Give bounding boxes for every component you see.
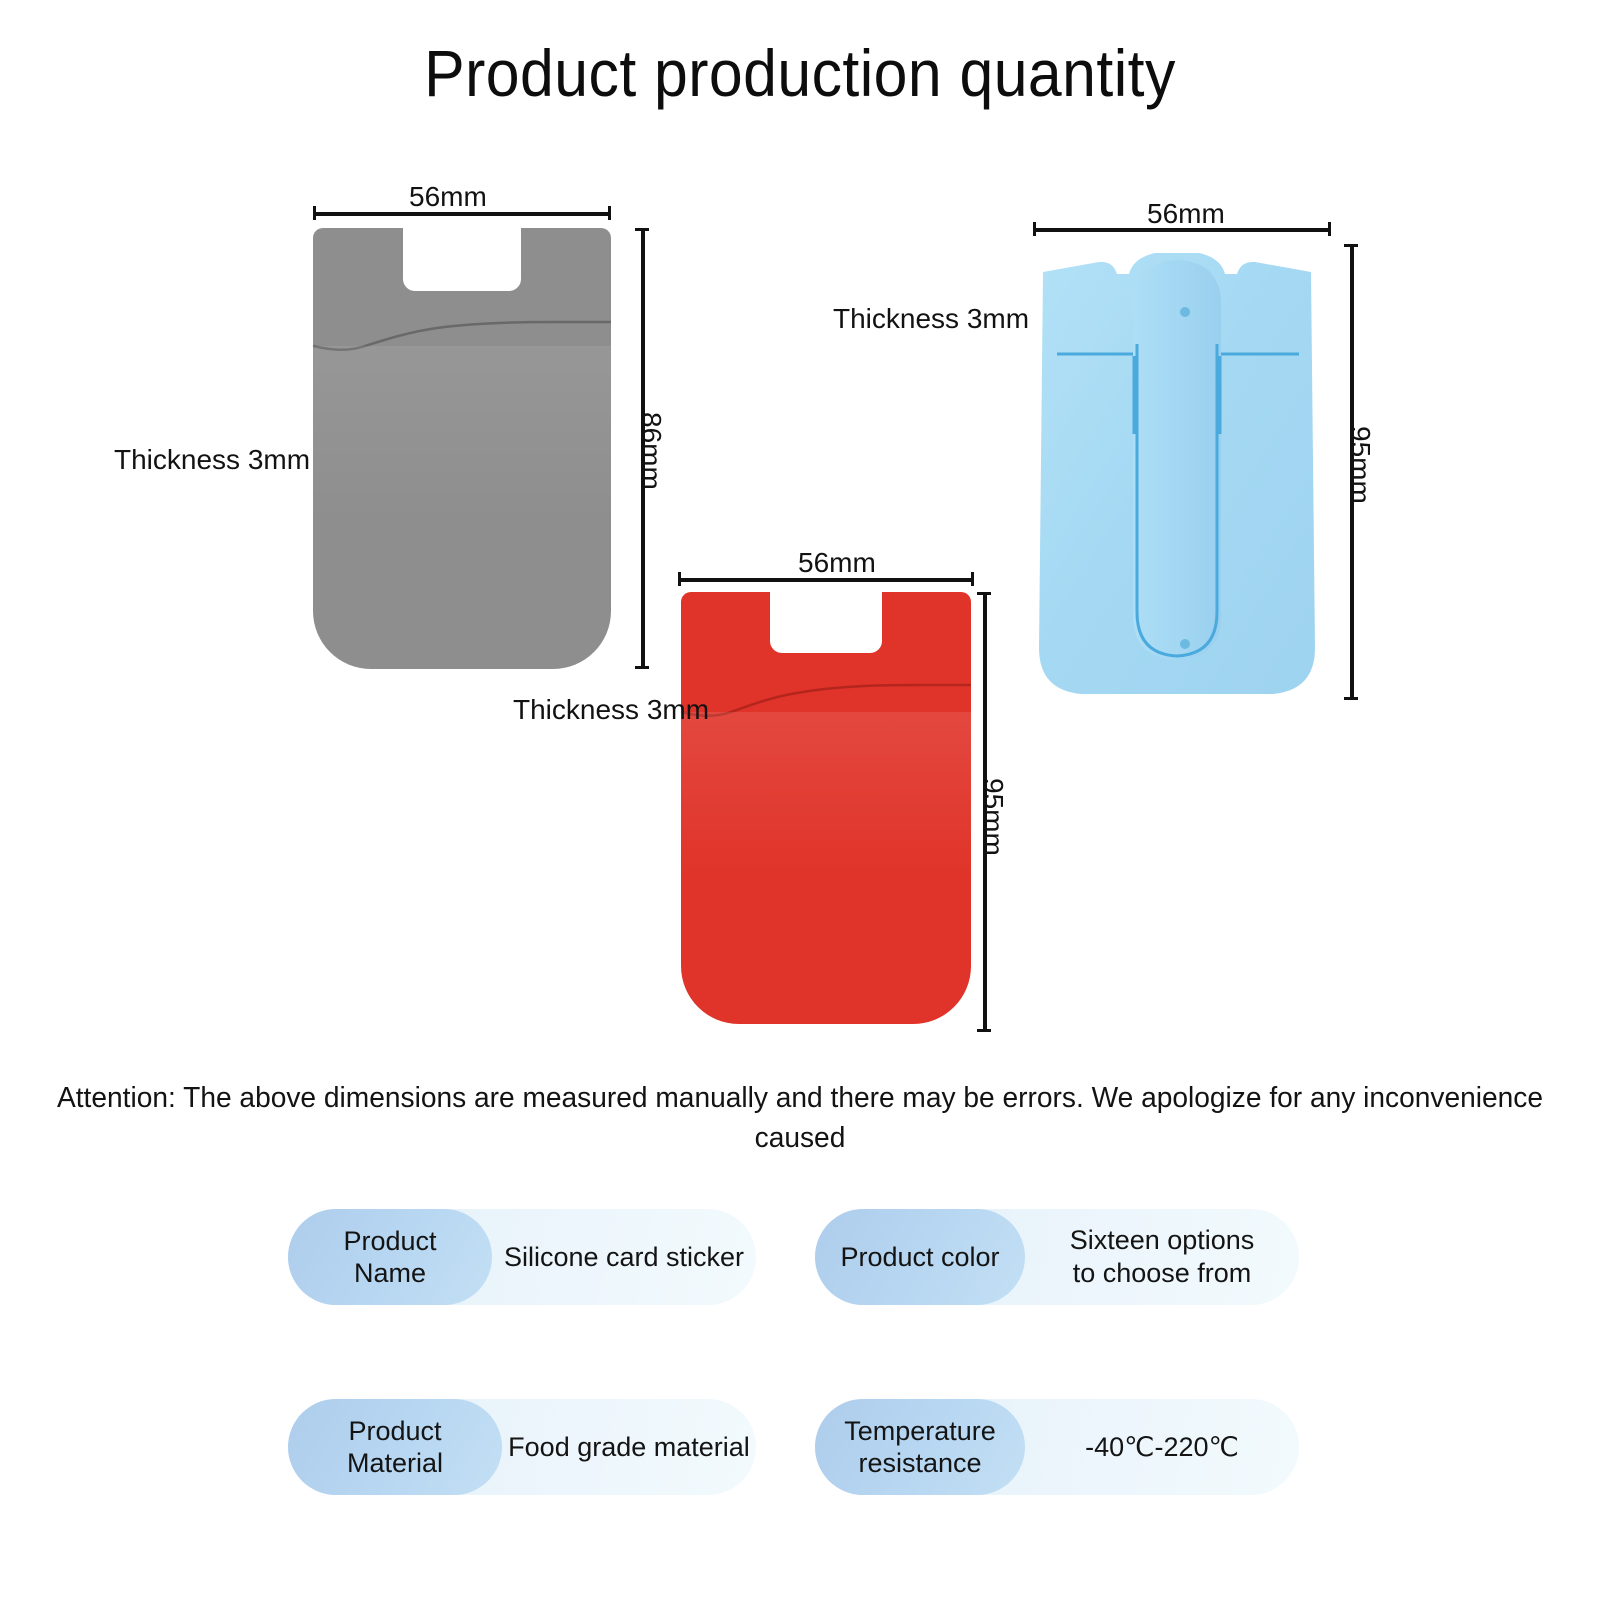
gray-width-label: 56mm — [409, 180, 487, 214]
spec-label-product-color: Product color — [815, 1209, 1025, 1305]
attention-note: Attention: The above dimensions are meas… — [24, 1078, 1576, 1158]
spec-label-product-material: Product Material — [288, 1399, 502, 1495]
gray-height-label: 86mm — [634, 412, 668, 490]
product-spec-page: Product production quantity 56mm 86mm Th… — [0, 0, 1600, 1600]
gray-card-thumb-notch — [403, 227, 521, 291]
red-card-shape — [681, 592, 971, 1024]
blue-thickness-label: Thickness 3mm — [833, 302, 1029, 336]
red-thickness-label: Thickness 3mm — [513, 693, 709, 727]
blue-width-dimension-line — [1033, 228, 1331, 232]
blue-width-label: 56mm — [1147, 197, 1225, 231]
spec-value-product-name: Silicone card sticker — [492, 1209, 756, 1305]
blue-stand-shape — [1033, 244, 1321, 700]
spec-label-temperature-resistance: Temperature resistance — [815, 1399, 1025, 1495]
gray-card-shape — [313, 228, 611, 669]
spec-item-product-name: Product Name Silicone card sticker — [288, 1209, 756, 1305]
spec-item-product-color: Product color Sixteen options to choose … — [815, 1209, 1299, 1305]
gray-width-dimension-line — [313, 212, 611, 216]
gray-card-body — [313, 228, 611, 669]
spec-label-product-name: Product Name — [288, 1209, 492, 1305]
blue-height-label: 95mm — [1343, 426, 1377, 504]
red-card-body — [681, 592, 971, 1024]
gray-thickness-label: Thickness 3mm — [114, 443, 310, 477]
spec-value-product-color: Sixteen options to choose from — [1025, 1209, 1299, 1305]
page-title: Product production quantity — [64, 34, 1536, 112]
spec-value-temperature-resistance: -40℃-220℃ — [1025, 1399, 1299, 1495]
spec-item-product-material: Product Material Food grade material — [288, 1399, 756, 1495]
spec-item-temperature-resistance: Temperature resistance -40℃-220℃ — [815, 1399, 1299, 1495]
red-card-thumb-notch — [770, 591, 882, 653]
red-width-label: 56mm — [798, 546, 876, 580]
spec-value-product-material: Food grade material — [502, 1399, 756, 1495]
blue-stand-body — [1033, 244, 1321, 700]
red-width-dimension-line — [678, 578, 974, 582]
red-height-label: 95mm — [976, 778, 1010, 856]
